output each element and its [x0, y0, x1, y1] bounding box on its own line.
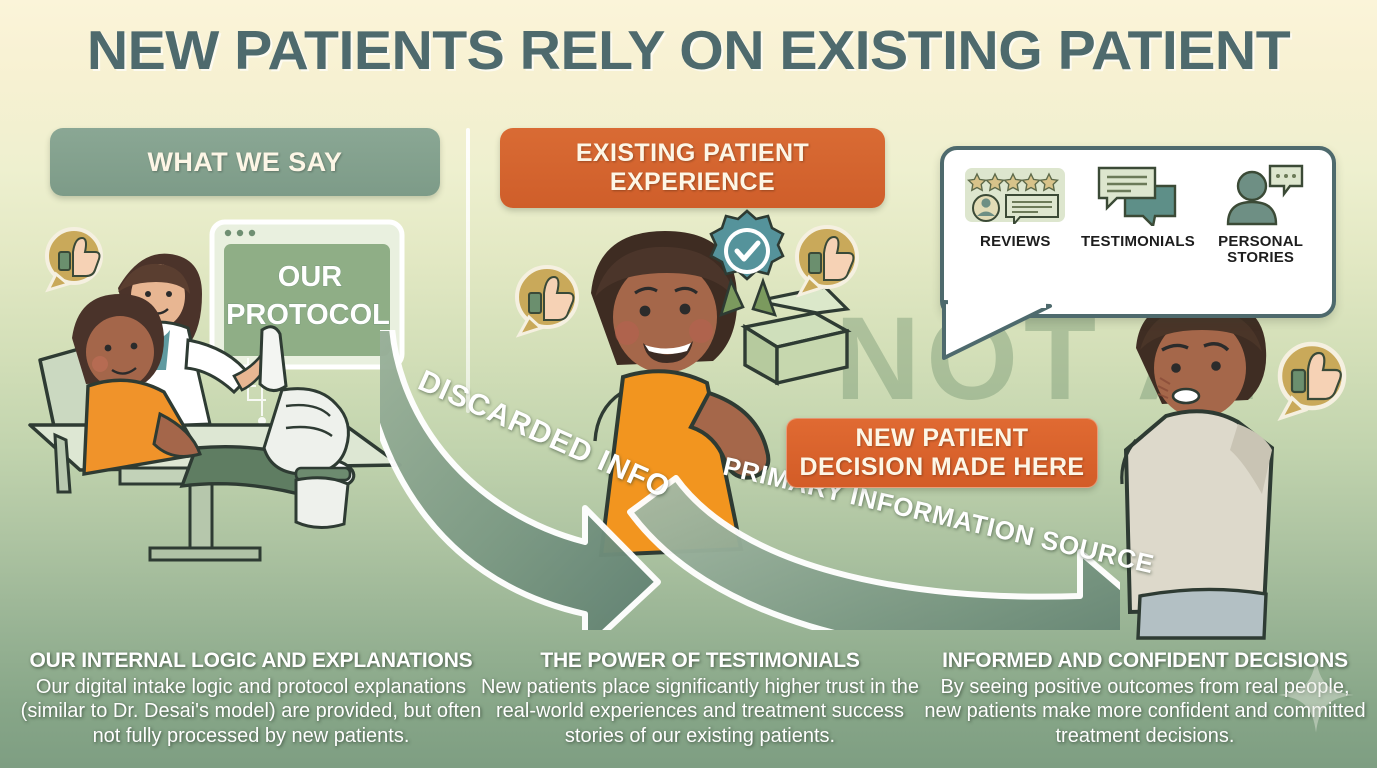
caption-middle-heading: THE POWER OF TESTIMONIALS: [480, 649, 920, 673]
badge-existing-patient-experience: EXISTING PATIENT EXPERIENCE: [500, 128, 885, 208]
svg-text:PROTOCOL: PROTOCOL: [226, 299, 390, 331]
caption-left: OUR INTERNAL LOGIC AND EXPLANATIONS Our …: [8, 649, 494, 748]
badge-decision-line1: NEW PATIENT: [799, 424, 1084, 453]
sparkle-watermark-icon: [1277, 656, 1355, 734]
bubble-item-personal-stories: PERSONAL STORIES: [1201, 164, 1321, 266]
page-title: NEW PATIENTS RELY ON EXISTING PATIENT: [0, 22, 1377, 80]
review-card-icon: [955, 164, 1075, 226]
bubble-item-reviews: REVIEWS: [955, 164, 1075, 250]
caption-left-body: Our digital intake logic and protocol ex…: [8, 675, 494, 748]
thumbs-up-icon-middle-left: [517, 267, 577, 335]
bubble-label-reviews: REVIEWS: [955, 234, 1075, 250]
information-sources-speech-bubble: REVIEWS TESTIMONIALS: [940, 146, 1336, 318]
thumbs-up-icon-right: [1280, 344, 1344, 418]
speech-bubble-tail: [938, 302, 1088, 372]
bubble-label-personal-stories: PERSONAL STORIES: [1201, 234, 1321, 266]
badge-existing-line1: EXISTING PATIENT: [576, 139, 809, 168]
person-speaking-icon: [1201, 164, 1321, 226]
caption-left-heading: OUR INTERNAL LOGIC AND EXPLANATIONS: [8, 649, 494, 673]
badge-existing-line2: EXPERIENCE: [576, 168, 809, 197]
badge-what-we-say-label: WHAT WE SAY: [148, 147, 343, 178]
badge-decision-line2: DECISION MADE HERE: [799, 453, 1084, 482]
bubble-item-testimonials: TESTIMONIALS: [1078, 164, 1198, 250]
caption-middle: THE POWER OF TESTIMONIALS New patients p…: [480, 649, 920, 748]
right-panel-illustration: [1100, 290, 1377, 640]
svg-text:OUR: OUR: [278, 261, 343, 293]
thumbs-up-icon-middle-right: [797, 227, 857, 295]
caption-middle-body: New patients place significantly higher …: [480, 675, 920, 748]
bubble-label-testimonials: TESTIMONIALS: [1078, 234, 1198, 250]
thumbs-up-icon-left: [47, 229, 101, 290]
chat-bubbles-icon: [1078, 164, 1198, 226]
infographic-canvas: NOT AI OUR PROTOCOL: [0, 0, 1377, 768]
new-patient-figure: [1122, 298, 1272, 638]
badge-new-patient-decision: NEW PATIENT DECISION MADE HERE: [786, 418, 1098, 488]
panel-divider: [466, 128, 470, 413]
badge-what-we-say: WHAT WE SAY: [50, 128, 440, 196]
